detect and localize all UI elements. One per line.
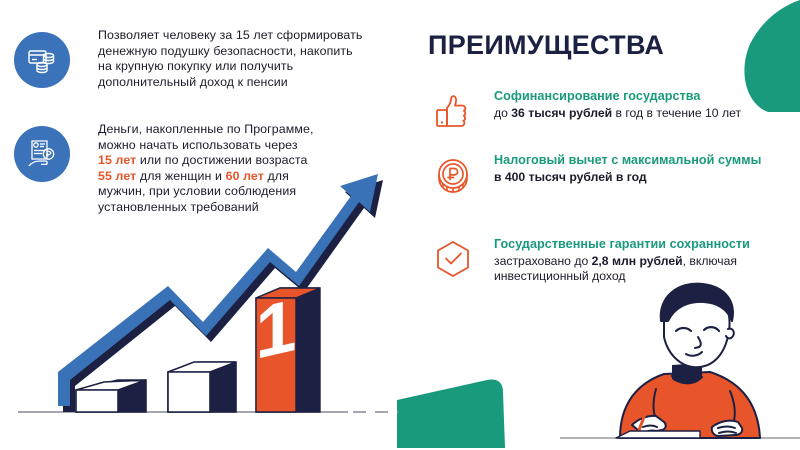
- podium-rank-label: 1: [255, 283, 296, 375]
- infographic-canvas: Позволяет человеку за 15 лет сформироват…: [0, 0, 800, 450]
- benefit-heading: Софинансирование государства: [494, 88, 741, 104]
- card-coins-icon: [14, 32, 70, 88]
- podium-block-winner: 1: [255, 283, 320, 412]
- podium-block-2: [168, 362, 236, 412]
- green-wedge-shape: [738, 0, 800, 112]
- info-block-savings-text: Позволяет человеку за 15 лет сформироват…: [98, 28, 362, 90]
- thumbs-up-icon: [430, 88, 476, 134]
- benefit-subtext: до 36 тысяч рублей в год в течение 10 ле…: [494, 106, 741, 121]
- hexagon-check-icon: [430, 236, 476, 282]
- page-title: ПРЕИМУЩЕСТВА: [428, 30, 664, 61]
- benefit-heading: Налоговый вычет с максимальной суммы: [494, 152, 761, 168]
- growth-chart-illustration: 1: [18, 150, 418, 450]
- info-block-savings: Позволяет человеку за 15 лет сформироват…: [14, 28, 362, 90]
- benefit-heading: Государственные гарантии сохранности: [494, 236, 750, 252]
- man-writing-illustration: [560, 275, 800, 450]
- benefit-item-cofinancing: Софинансирование государства до 36 тысяч…: [430, 88, 741, 134]
- ruble-coin-icon: [430, 152, 476, 198]
- podium-block-1: [76, 380, 146, 412]
- benefit-subtext: в 400 тысяч рублей в год: [494, 170, 761, 185]
- benefit-item-tax-deduction: Налоговый вычет с максимальной суммы в 4…: [430, 152, 761, 198]
